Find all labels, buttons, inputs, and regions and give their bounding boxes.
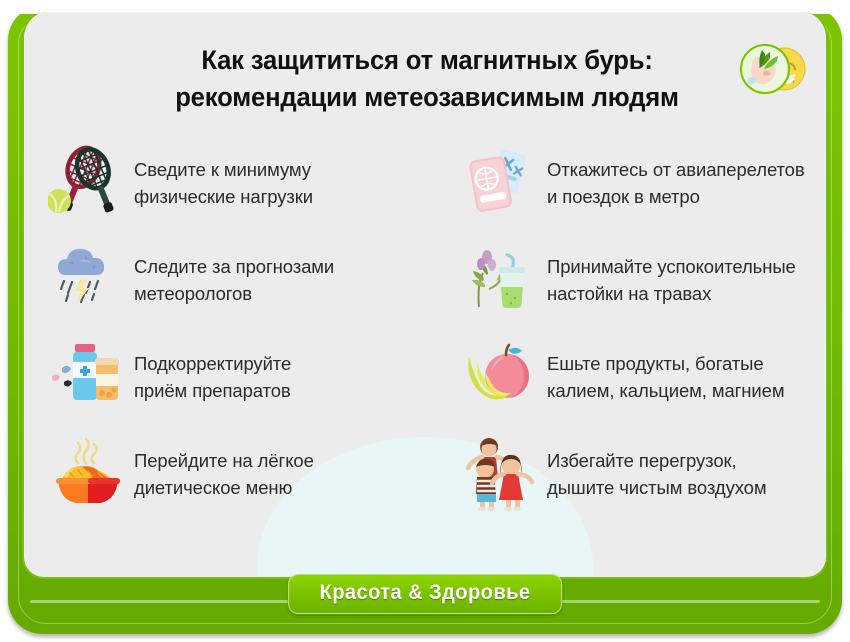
tip-text: Ешьте продукты, богатые калием, кальцием… xyxy=(543,350,784,404)
tip-text-line-1: Избегайте перегрузок, xyxy=(547,447,766,474)
title-line-1: Как защититься от магнитных бурь: xyxy=(44,42,810,79)
food-bowl-icon xyxy=(46,432,130,516)
tip-text: Избегайте перегрузок, дышите чистым возд… xyxy=(543,447,766,501)
tip-text: Подкорректируйте приём препаратов xyxy=(130,350,291,404)
tip-text-line-2: диетическое меню xyxy=(134,474,314,501)
tip-item: Перейдите на лёгкое диетическое меню xyxy=(24,425,417,522)
tip-text-line-1: Принимайте успокоительные xyxy=(547,253,796,280)
passport-air-tickets-icon xyxy=(459,141,543,225)
tip-text-line-1: Перейдите на лёгкое xyxy=(134,447,314,474)
content-panel: Как защититься от магнитных бурь: рекоме… xyxy=(22,12,828,579)
beauty-health-logo xyxy=(740,38,808,100)
tip-text-line-1: Откажитесь от авиаперелетов xyxy=(547,156,805,183)
tip-text-line-1: Следите за прогнозами xyxy=(134,253,334,280)
title-line-2: рекомендации метеозависимым людям xyxy=(44,79,810,116)
tip-text-line-2: калием, кальцием, магнием xyxy=(547,377,784,404)
brand-label: Красота & Здоровье xyxy=(320,581,531,605)
tip-text-line-1: Ешьте продукты, богатые xyxy=(547,350,784,377)
banana-apple-icon xyxy=(459,335,543,419)
tip-item: Сведите к минимуму физические нагрузки xyxy=(24,134,417,231)
page-title: Как защититься от магнитных бурь: рекоме… xyxy=(24,42,828,116)
footer-rule-left xyxy=(30,600,288,603)
rain-cloud-lightning-icon xyxy=(46,238,130,322)
tip-text: Принимайте успокоительные настойки на тр… xyxy=(543,253,796,307)
tip-text-line-2: приём препаратов xyxy=(134,377,291,404)
tennis-rackets-icon xyxy=(46,141,130,225)
tip-text-line-2: и поездок в метро xyxy=(547,183,805,210)
tip-text-line-1: Сведите к минимуму xyxy=(134,156,313,183)
tip-text-line-2: настойки на травах xyxy=(547,280,796,307)
tip-text: Перейдите на лёгкое диетическое меню xyxy=(130,447,314,501)
tip-text-line-2: дышите чистым воздухом xyxy=(547,474,766,501)
tip-text-line-2: метеорологов xyxy=(134,280,334,307)
herbal-drink-icon xyxy=(459,238,543,322)
tip-text: Сведите к минимуму физические нагрузки xyxy=(130,156,313,210)
tip-item: Подкорректируйте приём препаратов xyxy=(24,328,417,425)
tip-item: Избегайте перегрузок, дышите чистым возд… xyxy=(437,425,828,522)
medicine-bottles-icon xyxy=(46,335,130,419)
tip-text-line-1: Подкорректируйте xyxy=(134,350,291,377)
footer-rule-right xyxy=(562,600,820,603)
tip-text-line-2: физические нагрузки xyxy=(134,183,313,210)
tips-grid: Сведите к минимуму физические нагрузки xyxy=(24,134,828,522)
brand-badge[interactable]: Красота & Здоровье xyxy=(288,574,562,614)
tip-text: Следите за прогнозами метеорологов xyxy=(130,253,334,307)
infographic-poster: Как защититься от магнитных бурь: рекоме… xyxy=(0,0,850,642)
tip-item: Принимайте успокоительные настойки на тр… xyxy=(437,231,828,328)
tip-item: Откажитесь от авиаперелетов и поездок в … xyxy=(437,134,828,231)
tip-text: Откажитесь от авиаперелетов и поездок в … xyxy=(543,156,805,210)
tip-item: Следите за прогнозами метеорологов xyxy=(24,231,417,328)
children-playing-icon xyxy=(459,432,543,516)
footer-bar: Красота & Здоровье xyxy=(22,572,828,630)
tip-item: Ешьте продукты, богатые калием, кальцием… xyxy=(437,328,828,425)
